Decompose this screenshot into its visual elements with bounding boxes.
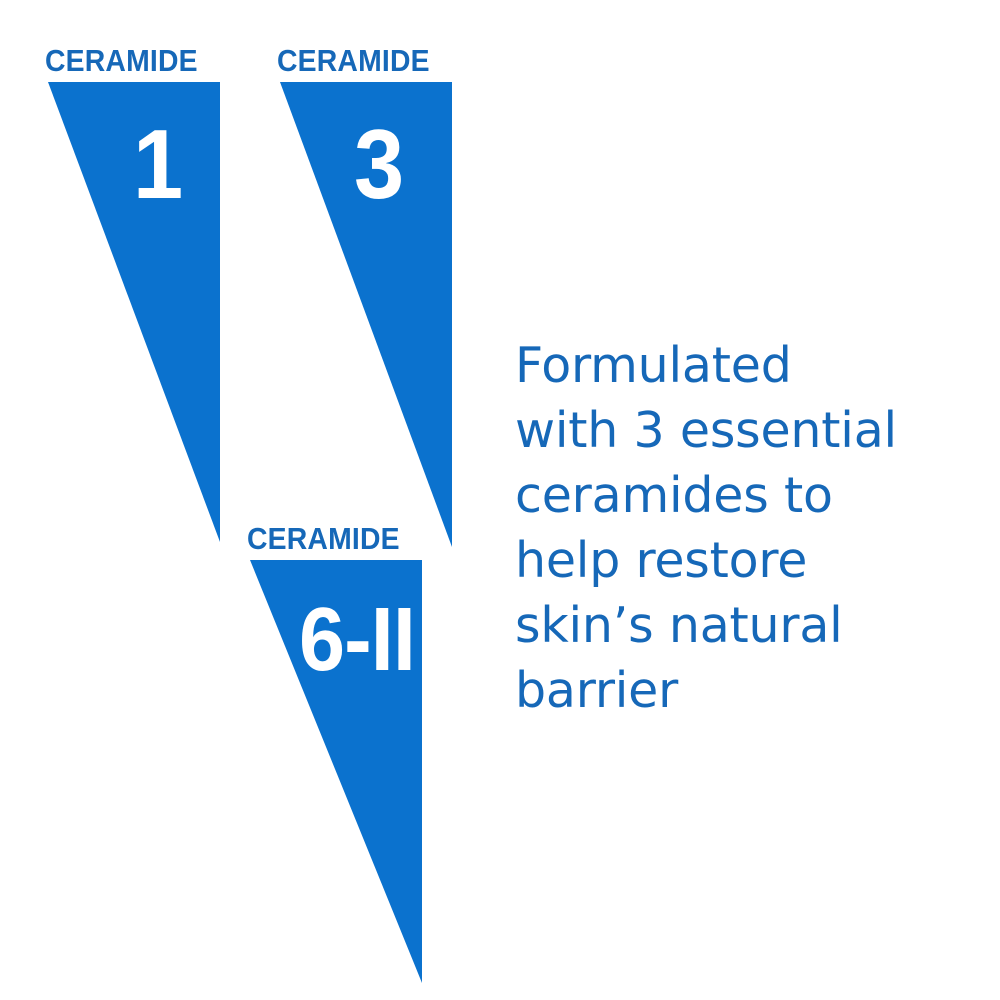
claim-line: Formulated [515, 333, 985, 398]
ceramide-numeral-1: 1 [133, 115, 183, 213]
claim-line: with 3 essential [515, 398, 985, 463]
claim-line: skin’s natural [515, 593, 985, 658]
ceramide-numeral-3: 6-II [299, 595, 415, 685]
ceramide-label-2: CERAMIDE [277, 45, 430, 76]
ceramide-label-3: CERAMIDE [247, 523, 400, 554]
ceramide-badge-1: CERAMIDE 1 [45, 45, 275, 505]
claim-text-block: Formulated with 3 essential ceramides to… [515, 333, 985, 723]
ceramide-badge-2: CERAMIDE 3 [277, 45, 507, 510]
claim-line: help restore [515, 528, 985, 593]
ceramide-badge-3: CERAMIDE 6-II [247, 523, 477, 983]
ceramide-infographic: CERAMIDE 1 CERAMIDE 3 CERAMIDE 6-II Form… [0, 0, 1000, 1000]
ceramide-numeral-2: 3 [354, 115, 404, 213]
claim-line: barrier [515, 658, 985, 723]
ceramide-label-1: CERAMIDE [45, 45, 198, 76]
claim-line: ceramides to [515, 463, 985, 528]
